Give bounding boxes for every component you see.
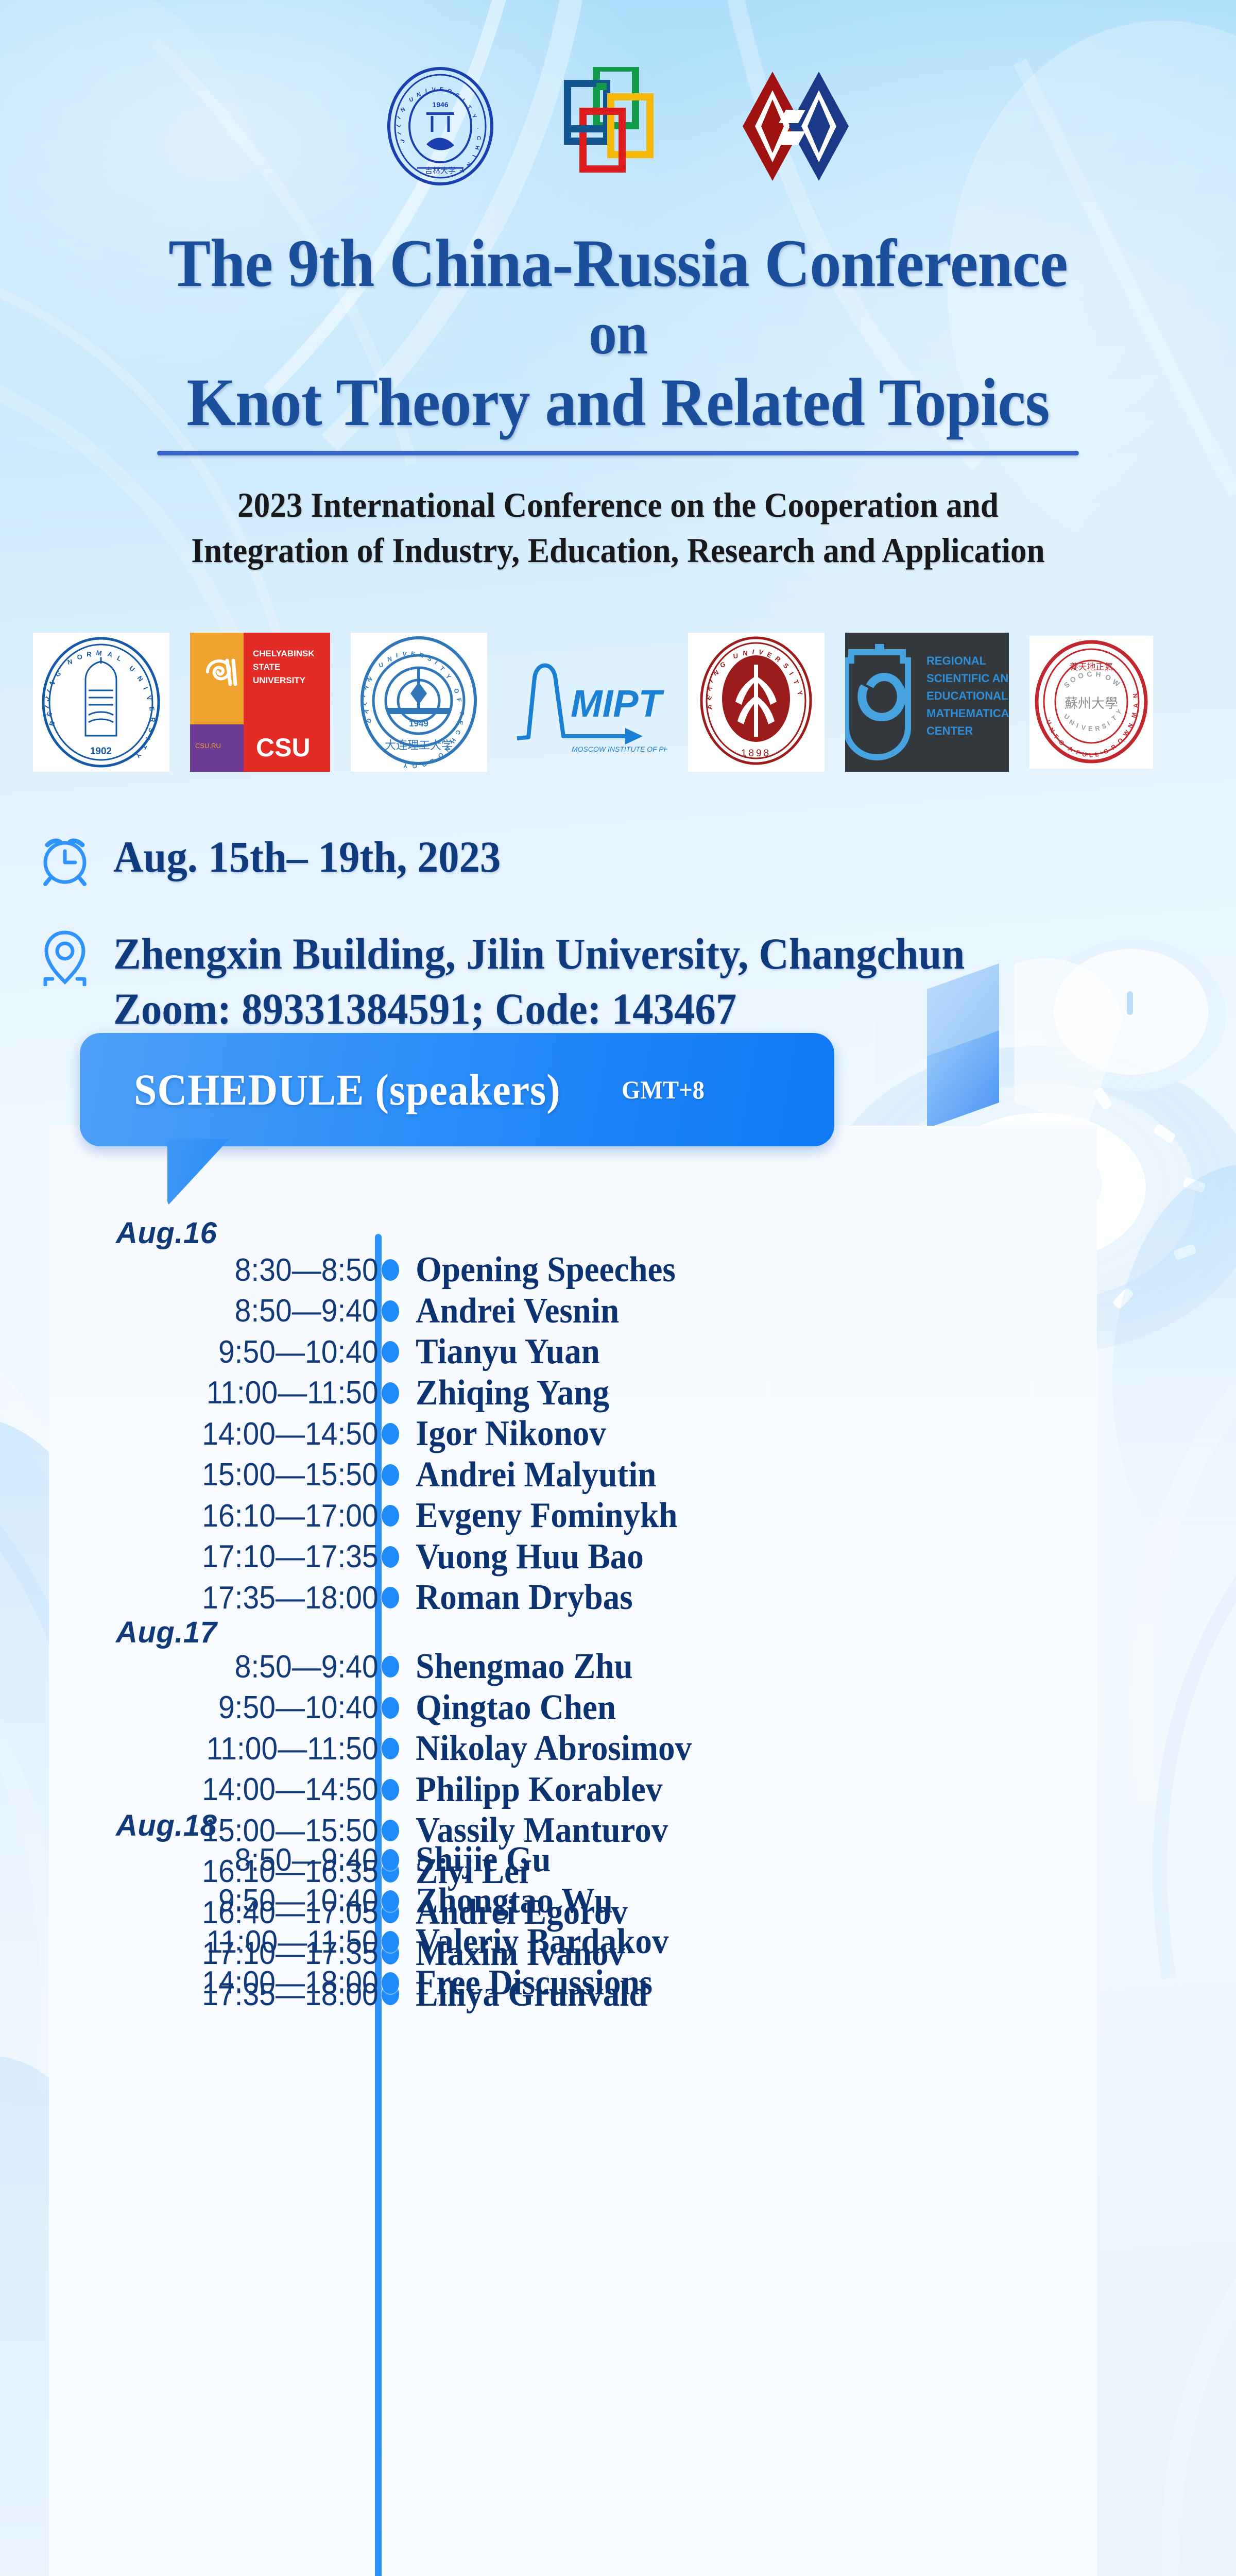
mipt-label: MOSCOW INSTITUTE OF PHYSICS AND TECHNOLO…: [572, 745, 667, 753]
timeline-dot: [382, 1587, 399, 1608]
schedule-banner-title: SCHEDULE (speakers): [134, 1064, 561, 1115]
svg-text:M: M: [874, 694, 881, 703]
schedule-speaker: Roman Drybas: [403, 1577, 633, 1618]
conference-date: Aug. 15th– 19th, 2023: [113, 829, 501, 885]
schedule-row: 8:50—9:40Andrei Vesnin: [49, 1291, 1097, 1332]
schedule-speaker: Philipp Korablev: [403, 1769, 662, 1810]
schedule-row: 11:00—11:50Valeriy Bardakov: [49, 1921, 1097, 1962]
rsemc-line4: MATHEMATICAL: [926, 707, 1009, 720]
timeline-dot: [382, 1779, 399, 1801]
schedule-banner-timezone: GMT+8: [622, 1075, 705, 1105]
bnu-year: 1902: [90, 746, 112, 757]
conference-title-line1: The 9th China-Russia Conference: [43, 227, 1193, 300]
schedule-time: 9:50—10:40: [76, 1334, 389, 1370]
schedule-row: 11:00—11:50Nikolay Abrosimov: [49, 1728, 1097, 1769]
schedule-speaker: Igor Nikonov: [403, 1413, 606, 1454]
svg-text:U: U: [733, 652, 738, 660]
svg-text:O: O: [77, 653, 82, 661]
schedule-time: 8:50—9:40: [76, 1293, 389, 1329]
schedule-row: 8:30—8:50Opening Speeches: [49, 1249, 1097, 1291]
svg-text:V: V: [432, 87, 436, 93]
soochow-university-logo: 養天地正氣 蘇州大學 S O O C H O W U N I V E R S I…: [1029, 636, 1153, 769]
timeline-dot: [382, 1300, 399, 1322]
schedule-row: 16:10—17:00Evgeny Fominykh: [49, 1495, 1097, 1536]
location-pin-icon: [36, 928, 94, 986]
dalian-university-of-technology-logo: 1949 大连理工大学 D A L I A N U N I V E R S I …: [351, 633, 487, 772]
schedule-day-header: Aug.18: [49, 1808, 217, 1843]
schedule-speaker: Shengmao Zhu: [403, 1646, 633, 1687]
schedule-row: 17:35—18:00Roman Drybas: [49, 1577, 1097, 1618]
schedule-speaker: Evgeny Fominykh: [403, 1495, 677, 1536]
schedule-row: 17:10—17:35Vuong Huu Bao: [49, 1536, 1097, 1578]
svg-text:N: N: [743, 649, 748, 657]
timeline-dot: [382, 1820, 399, 1841]
schedule-row: 9:50—10:40Zhongtao Wu: [49, 1880, 1097, 1922]
svg-text:I: I: [425, 88, 427, 94]
timeline-dot: [382, 1849, 399, 1871]
red-blue-diamond-logo: [736, 70, 855, 183]
svg-text:R: R: [149, 717, 157, 723]
beijing-normal-university-logo: 1902 B E I J I N G N O R M A L U N I V E: [33, 633, 169, 772]
schedule-time: 16:10—17:00: [76, 1498, 389, 1534]
schedule-time: 17:35—18:00: [76, 1580, 389, 1616]
timeline-dot: [382, 1931, 399, 1953]
svg-text:N: N: [465, 161, 472, 167]
schedule-day-header: Aug.16: [49, 1216, 217, 1250]
timeline-dot: [382, 1505, 399, 1527]
svg-text:大连理工大学: 大连理工大学: [385, 739, 453, 752]
rsemc-line2: SCIENTIFIC AND: [926, 672, 1009, 685]
schedule-speaker: Qingtao Chen: [403, 1687, 616, 1728]
conference-title-line3: Knot Theory and Related Topics: [43, 366, 1193, 439]
csu-line3: UNIVERSITY: [253, 675, 306, 685]
schedule-speaker: Opening Speeches: [403, 1249, 676, 1291]
mipt-logo: MIPT MOSCOW INSTITUTE OF PHYSICS AND TEC…: [508, 651, 667, 754]
svg-text:H: H: [1095, 670, 1102, 679]
csu-line2: STATE: [253, 662, 280, 672]
svg-text:U: U: [408, 96, 415, 104]
svg-text:I: I: [397, 131, 403, 135]
svg-text:A: A: [1132, 703, 1139, 708]
schedule-time: 14:00—14:50: [76, 1771, 389, 1808]
conference-subtitle-line1: 2023 International Conference on the Coo…: [43, 482, 1193, 528]
date-row: Aug. 15th– 19th, 2023: [36, 829, 1169, 889]
schedule-row: 14:00—14:50Philipp Korablev: [49, 1769, 1097, 1810]
knot-interlocking-squares-logo: [561, 67, 675, 185]
schedule-row: 15:00—15:50Andrei Malyutin: [49, 1454, 1097, 1496]
conference-info: Aug. 15th– 19th, 2023 Zhengxin Building,…: [36, 829, 1169, 1036]
rsemc-line1: REGIONAL: [926, 654, 986, 667]
svg-text:R: R: [447, 88, 453, 95]
timeline-dot: [382, 1738, 399, 1759]
jilin-university-seal-logo: 1946 吉林大学 J I L I N U N I V E R S I T Y: [381, 67, 500, 185]
peking-university-logo: 1898 P E K I N G U N I V E R S I T Y: [688, 633, 825, 772]
title-block: The 9th China-Russia Conference on Knot …: [0, 227, 1236, 573]
schedule-speaker: Vuong Huu Bao: [403, 1536, 644, 1578]
schedule-row: 8:50—9:40Shengmao Zhu: [49, 1646, 1097, 1687]
svg-text:L: L: [1089, 752, 1093, 759]
sponsor-logos-row: 1902 B E I J I N G N O R M A L U N I V E: [33, 628, 1202, 777]
title-divider: [157, 451, 1079, 455]
svg-text:E: E: [1088, 725, 1093, 733]
schedule-row: 14:00—14:50Igor Nikonov: [49, 1413, 1097, 1454]
schedule-speaker: Zhongtao Wu: [403, 1880, 613, 1922]
schedule-time: 14:00—18:00: [76, 1964, 389, 2001]
svg-text:J: J: [400, 139, 406, 144]
svg-text:吉林大学: 吉林大学: [425, 166, 456, 175]
svg-text:C: C: [475, 136, 482, 140]
schedule-row: 9:50—10:40Qingtao Chen: [49, 1687, 1097, 1728]
schedule-row: 8:50—9:40Shijie Gu: [49, 1839, 1097, 1880]
schedule-time: 9:50—10:40: [76, 1883, 389, 1919]
schedule-day-header: Aug.17: [49, 1615, 217, 1650]
svg-text:蘇州大學: 蘇州大學: [1065, 696, 1118, 711]
csu-abbr: CSU: [256, 733, 311, 762]
header-logos: 1946 吉林大学 J I L I N U N I V E R S I T Y: [0, 52, 1236, 201]
svg-text:I: I: [397, 115, 402, 121]
conference-zoom: Zoom: 89331384591; Code: 143467: [113, 981, 965, 1037]
svg-text:1946: 1946: [432, 100, 448, 109]
svg-text:·: ·: [474, 127, 481, 130]
schedule-speaker: Tianyu Yuan: [403, 1331, 600, 1372]
conference-title-line2: on: [43, 300, 1193, 366]
chelyabinsk-state-university-logo: CHELYABINSK STATE UNIVERSITY CSU CSU.RU: [190, 633, 330, 772]
timeline-dot: [382, 1423, 399, 1445]
timeline-dot: [382, 1890, 399, 1912]
dut-year: 1949: [409, 719, 428, 728]
csu-url: CSU.RU: [195, 742, 221, 750]
timeline-dot: [382, 1697, 399, 1719]
alarm-clock-icon: [36, 832, 94, 889]
schedule-time: 8:50—9:40: [76, 1842, 389, 1878]
regional-scientific-educational-mathematical-center-logo: M REGIONAL SCIENTIFIC AND EDUCATIONAL MA…: [845, 633, 1009, 772]
mipt-abbr: MIPT: [571, 682, 665, 725]
schedule-time: 9:50—10:40: [76, 1689, 389, 1726]
schedule-row: 14:00—18:00Free Discussions: [49, 1962, 1097, 2004]
schedule-time: 11:00—11:50: [76, 1375, 389, 1411]
schedule-banner: SCHEDULE (speakers) GMT+8: [80, 1033, 834, 1146]
schedule-speaker: Andrei Vesnin: [403, 1291, 619, 1332]
schedule-row: 9:50—10:40Tianyu Yuan: [49, 1331, 1097, 1372]
timeline-dot: [382, 1259, 399, 1281]
schedule-time: 17:10—17:35: [76, 1538, 389, 1575]
svg-text:H: H: [474, 145, 480, 150]
svg-text:E: E: [439, 86, 444, 93]
timeline-dot: [382, 1972, 399, 1994]
timeline-dot: [382, 1382, 399, 1404]
conference-venue: Zhengxin Building, Jilin University, Cha…: [113, 926, 965, 981]
timeline-dot: [382, 1341, 399, 1363]
schedule-row: 11:00—11:50Zhiqing Yang: [49, 1372, 1097, 1414]
conference-subtitle-line2: Integration of Industry, Education, Rese…: [43, 528, 1193, 573]
schedule-time: 11:00—11:50: [76, 1731, 389, 1767]
schedule-time: 14:00—14:50: [76, 1416, 389, 1452]
schedule-speaker: Shijie Gu: [403, 1839, 551, 1880]
svg-text:N: N: [416, 92, 421, 98]
svg-text:I: I: [396, 652, 398, 659]
timeline-dot: [382, 1546, 399, 1568]
schedule-speaker: Nikolay Abrosimov: [403, 1728, 692, 1769]
svg-text:N: N: [400, 106, 406, 113]
svg-text:V: V: [402, 650, 407, 658]
svg-text:Y: Y: [403, 762, 407, 769]
schedule-speaker: Free Discussions: [403, 1962, 653, 2004]
schedule-time: 8:30—8:50: [76, 1252, 389, 1289]
schedule-speaker: Zhiqing Yang: [403, 1372, 609, 1414]
csu-line1: CHELYABINSK: [253, 649, 315, 658]
venue-row: Zhengxin Building, Jilin University, Cha…: [36, 926, 1169, 1036]
rsemc-line5: CENTER: [926, 724, 973, 737]
schedule-time: 15:00—15:50: [76, 1456, 389, 1493]
schedule-time: 8:50—9:40: [76, 1649, 389, 1685]
svg-text:L: L: [396, 122, 403, 129]
schedule-speaker: Andrei Malyutin: [403, 1454, 656, 1496]
schedule-speaker: Valeriy Bardakov: [403, 1921, 668, 1962]
svg-text:I: I: [471, 154, 477, 158]
rsemc-line3: EDUCATIONAL: [926, 689, 1008, 702]
timeline-dot: [382, 1656, 399, 1677]
svg-text:R: R: [87, 650, 92, 658]
pku-year: 1898: [741, 748, 771, 759]
schedule-time: 11:00—11:50: [76, 1924, 389, 1960]
timeline-dot: [382, 1464, 399, 1486]
svg-text:U: U: [1082, 751, 1087, 758]
svg-text:T: T: [458, 711, 466, 715]
